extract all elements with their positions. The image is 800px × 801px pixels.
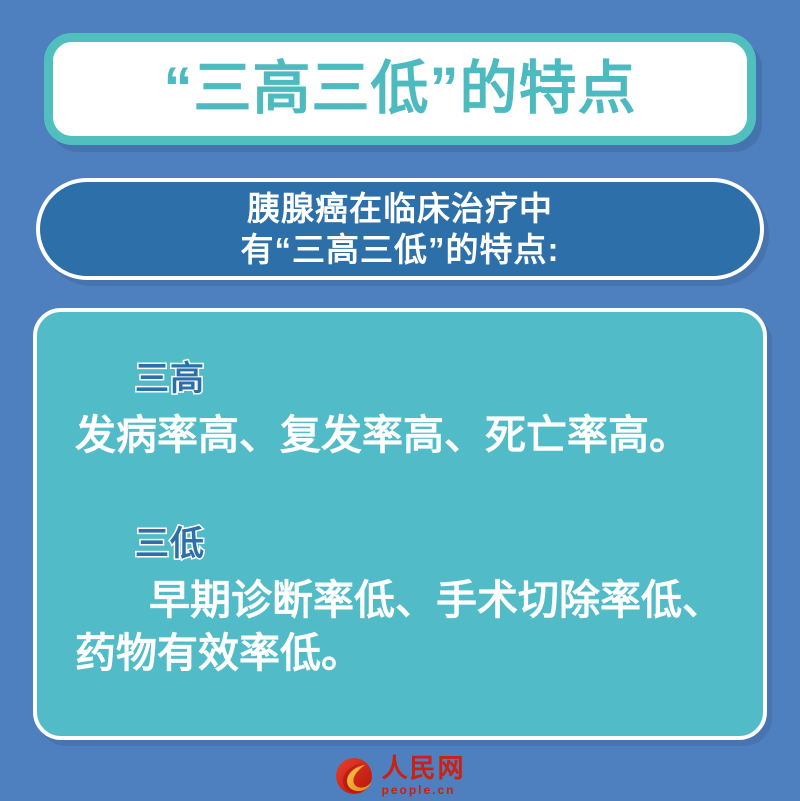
page-title: “三高三低”的特点 xyxy=(163,60,636,118)
people-daily-logo-icon xyxy=(334,756,374,796)
section-sangao: 三高 发病率高、复发率高、死亡率高。 xyxy=(37,360,763,462)
section-sandi-label: 三低 xyxy=(135,525,205,564)
logo-text-block: 人民网 people.cn xyxy=(381,756,465,796)
subtitle-card: 胰腺癌在临床治疗中 有“三高三低”的特点: xyxy=(36,178,764,280)
logo-domain: people.cn xyxy=(381,784,455,796)
subtitle-line-1: 胰腺癌在临床治疗中 xyxy=(247,188,553,229)
logo-chinese-name: 人民网 xyxy=(381,756,465,782)
section-sangao-label: 三高 xyxy=(135,360,205,399)
site-logo[interactable]: 人民网 people.cn xyxy=(334,756,465,796)
infographic-page: “三高三低”的特点 胰腺癌在临床治疗中 有“三高三低”的特点: 三高 发病率高、… xyxy=(0,0,800,800)
section-sandi-text: 早期诊断率低、手术切除率低、药物有效率低。 xyxy=(75,574,745,679)
footer: 人民网 people.cn xyxy=(0,752,800,800)
section-sandi: 三低 早期诊断率低、手术切除率低、药物有效率低。 xyxy=(37,525,763,679)
section-sangao-text: 发病率高、复发率高、死亡率高。 xyxy=(75,409,745,461)
subtitle-line-2: 有“三高三低”的特点: xyxy=(241,229,560,270)
title-card: “三高三低”的特点 xyxy=(44,33,756,145)
body-card: 三高 发病率高、复发率高、死亡率高。 三低 早期诊断率低、手术切除率低、药物有效… xyxy=(33,308,767,740)
